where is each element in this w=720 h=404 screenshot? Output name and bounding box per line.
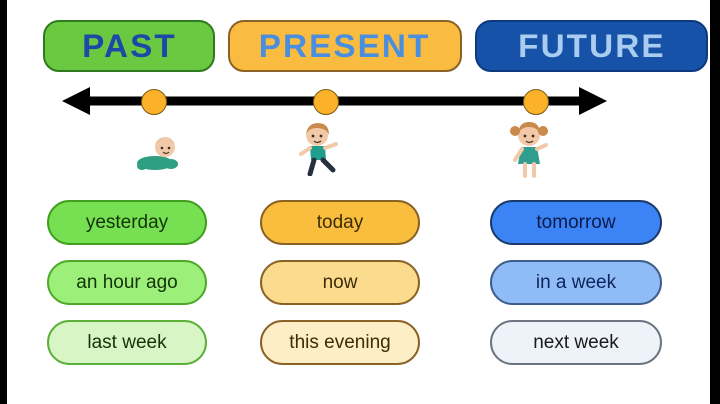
running-child-icon — [295, 122, 345, 176]
header-badge-future: FUTURE — [475, 20, 708, 72]
header-badge-present: PRESENT — [228, 20, 462, 72]
crawling-baby-icon — [135, 130, 187, 172]
letterbox-right — [710, 0, 720, 404]
word-pill[interactable]: tomorrow — [490, 200, 662, 245]
letterbox-left — [0, 0, 7, 404]
infographic-canvas: PAST PRESENT FUTURE — [7, 0, 710, 404]
word-pill[interactable]: today — [260, 200, 420, 245]
header-badge-future-label: FUTURE — [518, 30, 665, 62]
word-column-past: yesterday an hour ago last week — [47, 200, 207, 380]
header-badge-present-label: PRESENT — [259, 30, 431, 62]
word-pill[interactable]: next week — [490, 320, 662, 365]
word-pill[interactable]: now — [260, 260, 420, 305]
word-pill[interactable]: last week — [47, 320, 207, 365]
word-pill[interactable]: this evening — [260, 320, 420, 365]
header-badge-past-label: PAST — [82, 30, 177, 62]
word-column-future: tomorrow in a week next week — [490, 200, 662, 380]
timeline-dot-present — [313, 89, 339, 115]
timeline-dot-future — [523, 89, 549, 115]
word-pill[interactable]: in a week — [490, 260, 662, 305]
timeline-infographic: PAST PRESENT FUTURE — [0, 0, 720, 404]
header-badge-past: PAST — [43, 20, 215, 72]
word-pill[interactable]: yesterday — [47, 200, 207, 245]
timeline-axis — [62, 84, 607, 118]
timeline-dot-past — [141, 89, 167, 115]
word-pill[interactable]: an hour ago — [47, 260, 207, 305]
word-column-present: today now this evening — [260, 200, 420, 380]
standing-girl-icon — [507, 118, 553, 180]
